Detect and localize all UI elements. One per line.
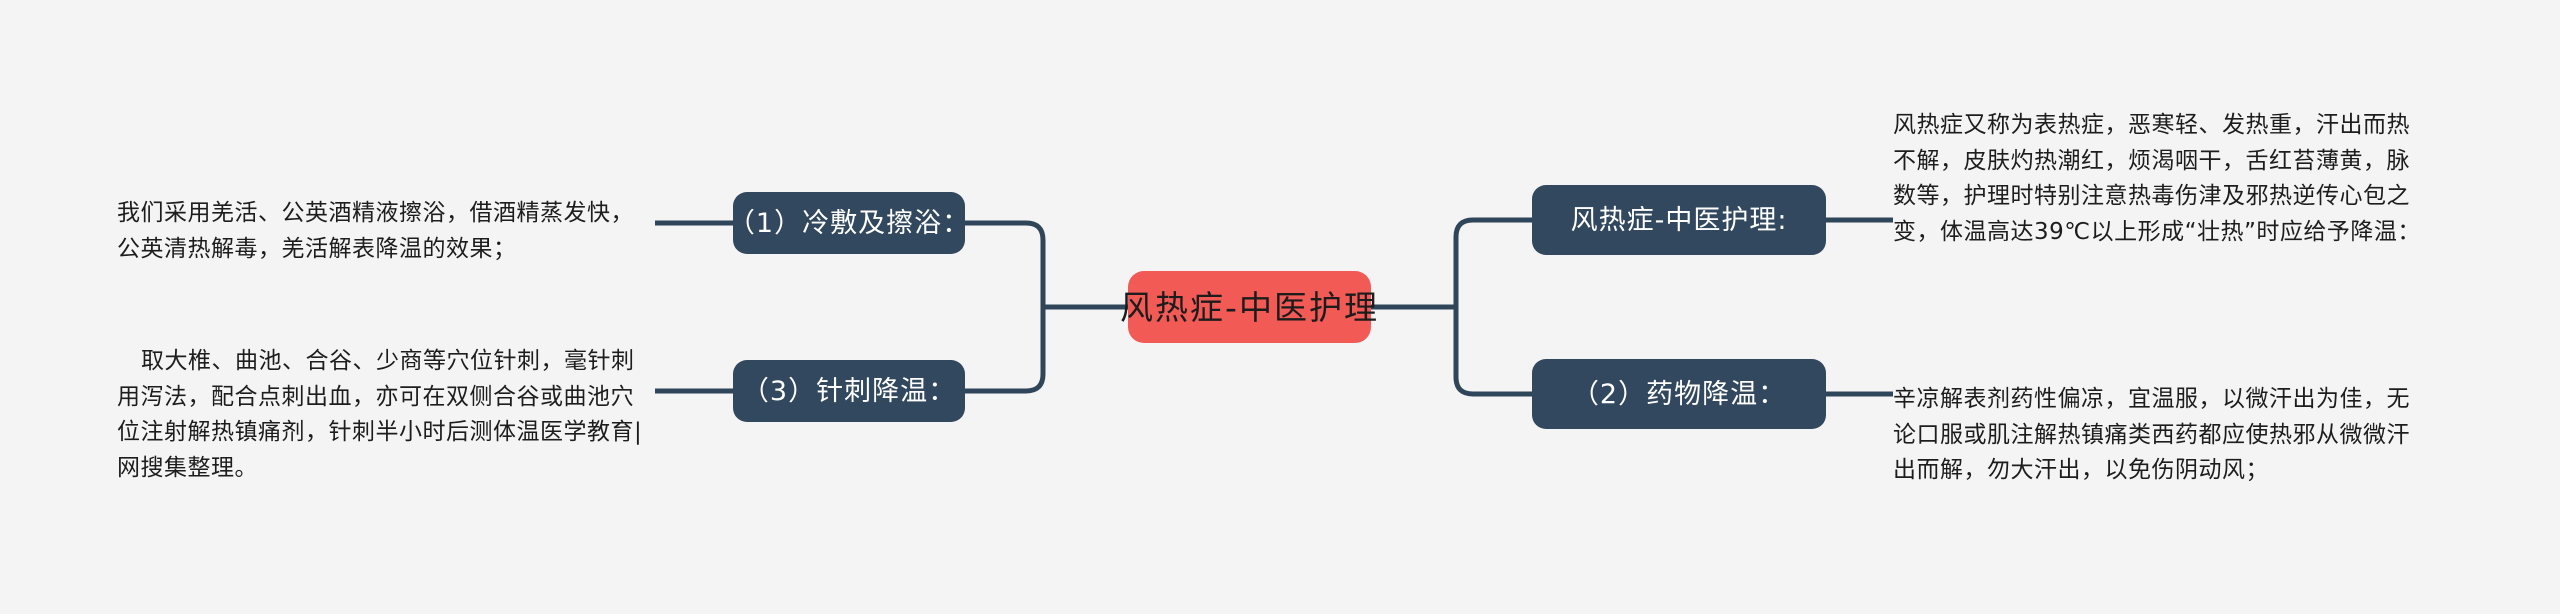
connector-left-bracket: [965, 223, 1043, 391]
node-cold-compress[interactable]: （1）冷敷及擦浴：: [733, 192, 965, 254]
node-wind-heat-tcm-nursing[interactable]: 风热症-中医护理:: [1532, 185, 1826, 255]
leaf-text-drug-cooling: 辛凉解表剂药性偏凉，宜温服，以微汗出为佳，无论口服或肌注解热镇痛类西药都应使热邪…: [1893, 382, 2421, 489]
leaf-text-acupuncture-cooling: 取大椎、曲池、合谷、少商等穴位针刺，毫针刺用泻法，配合点刺出血，亦可在双侧合谷或…: [117, 344, 645, 487]
connector-right-bracket: [1456, 220, 1532, 394]
leaf-text-cold-compress: 我们采用羌活、公英酒精液擦浴，借酒精蒸发快，公英清热解毒，羌活解表降温的效果；: [117, 196, 645, 267]
leaf-text-wind-heat-symptoms: 风热症又称为表热症，恶寒轻、发热重，汗出而热不解，皮肤灼热潮红，烦渴咽干，舌红苔…: [1893, 108, 2421, 251]
root-node[interactable]: 风热症-中医护理: [1128, 271, 1371, 343]
node-acupuncture-cooling[interactable]: （3）针刺降温：: [733, 360, 965, 422]
node-drug-cooling[interactable]: （2）药物降温：: [1532, 359, 1826, 429]
mindmap-canvas: 风热症-中医护理 （1）冷敷及擦浴： （3）针刺降温： 风热症-中医护理: （2…: [0, 0, 2560, 614]
